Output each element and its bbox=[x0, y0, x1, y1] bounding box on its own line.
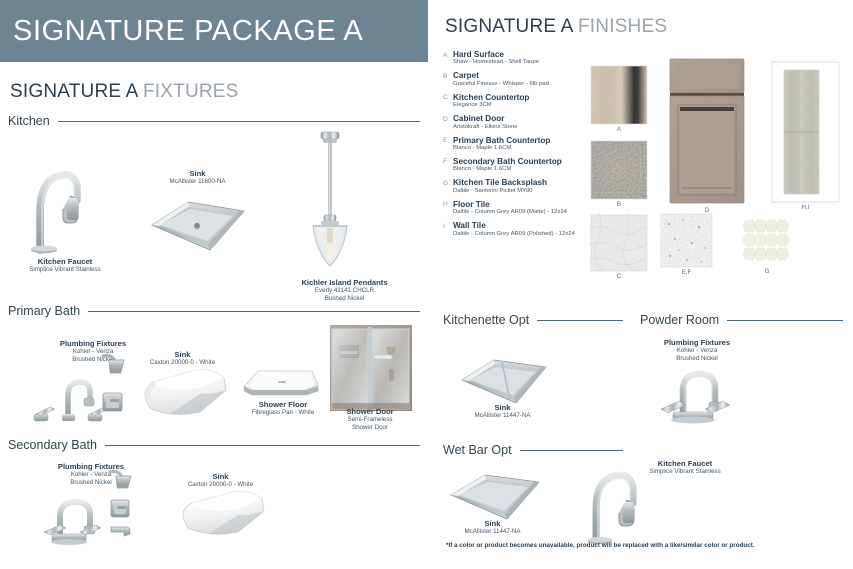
legend-letter: C bbox=[443, 93, 453, 102]
product-image-primary-sink bbox=[140, 368, 232, 420]
product-sub1: McAllister 11600-NA bbox=[145, 178, 250, 186]
product-name: Shower Door bbox=[320, 407, 420, 416]
caption-powder-plumbing: Plumbing Fixtures Kohler - Venza Brushed… bbox=[632, 338, 762, 363]
product-sub1: Simplice Vibrant Stainless bbox=[0, 266, 130, 274]
group-label-secondary-bath: Secondary Bath bbox=[8, 438, 105, 452]
finishes-title-light: FINISHES bbox=[578, 16, 667, 37]
product-sub2: Brushed Nickel bbox=[26, 479, 156, 487]
legend-item-f: F Secondary Bath Countertop Blanco - Map… bbox=[443, 157, 593, 174]
group-heading-kitchenette: Kitchenette Opt bbox=[443, 313, 623, 327]
legend-item-c: C Kitchen Countertop Elegance 3CM bbox=[443, 93, 593, 110]
legend-item-d: D Cabinet Door Aristokraft - Elkins Ston… bbox=[443, 114, 593, 131]
legend-name: Kitchen Tile Backsplash bbox=[453, 178, 547, 187]
product-name: Kitchen Faucet bbox=[620, 459, 750, 468]
legend-letter: H bbox=[443, 200, 453, 209]
finishes-title-strong: SIGNATURE A bbox=[445, 16, 573, 37]
group-label-kitchen: Kitchen bbox=[8, 114, 58, 128]
product-image-kitchen-faucet bbox=[22, 138, 102, 253]
swatch-g-kitchen-backsplash: G bbox=[740, 214, 794, 266]
legend-name: Hard Surface bbox=[453, 50, 539, 59]
caption-wetbar-sink: Sink McAllister 11447-NA bbox=[440, 519, 545, 536]
divider-rule bbox=[537, 320, 623, 321]
legend-letter: E bbox=[443, 136, 453, 145]
product-sub1: Kohler - Venza bbox=[26, 471, 156, 479]
legend-spec: Blanco - Maple 1.6CM bbox=[453, 145, 550, 152]
legend-spec: Shaw - Homestead - Shell Taupe bbox=[453, 59, 539, 66]
finishes-legend: A Hard Surface Shaw - Homestead - Shell … bbox=[443, 50, 593, 243]
product-sub1: Simplice Vibrant Stainless bbox=[620, 468, 750, 476]
product-image-secondary-showerhead bbox=[108, 468, 134, 492]
product-image-secondary-tub-spout bbox=[108, 524, 134, 542]
product-sub1: McAllister 11447-NA bbox=[440, 528, 545, 536]
product-image-primary-showerhead bbox=[100, 352, 128, 378]
caption-kitchen-sink: Sink McAllister 11600-NA bbox=[145, 169, 250, 186]
legend-item-h: H Floor Tile Daltile - Column Grey AR09 … bbox=[443, 200, 593, 217]
swatch-d-cabinet-door: D bbox=[668, 57, 746, 205]
legend-spec: Graceful Finesse - Whisper - 6lb pad bbox=[453, 81, 549, 88]
product-name: Sink bbox=[440, 519, 545, 528]
product-sub1: Kohler - Venza bbox=[632, 347, 762, 355]
product-name: Kitchen Faucet bbox=[0, 257, 130, 266]
product-image-secondary-faucet bbox=[38, 488, 108, 546]
product-sub2: Shower Door bbox=[320, 424, 420, 432]
swatch-ef-bath-countertop: E,F bbox=[661, 214, 712, 267]
product-name: Plumbing Fixtures bbox=[632, 338, 762, 347]
legend-letter: I bbox=[443, 221, 453, 230]
product-name: Plumbing Fixtures bbox=[26, 462, 156, 471]
product-sub2: Bushed Nickel bbox=[272, 295, 417, 303]
legend-name: Cabinet Door bbox=[453, 114, 518, 123]
group-heading-primary-bath: Primary Bath bbox=[8, 304, 420, 318]
legend-item-e: E Primary Bath Countertop Blanco - Maple… bbox=[443, 136, 593, 153]
product-image-island-pendant bbox=[300, 130, 360, 275]
product-image-wetbar-sink bbox=[447, 470, 543, 526]
product-image-shower-door bbox=[330, 325, 412, 411]
product-sub1: Everly 42141 CHCLR bbox=[272, 287, 417, 295]
product-name: Sink bbox=[168, 472, 273, 481]
caption-primary-sink: Sink Caxton 20000-0 - White bbox=[130, 350, 235, 367]
header-bar: SIGNATURE PACKAGE A bbox=[0, 0, 428, 62]
caption-kitchenette-sink: Sink McAllister 11447-NA bbox=[450, 403, 555, 420]
fixtures-section-title: SIGNATURE A FIXTURES bbox=[10, 81, 239, 103]
product-image-powder-faucet bbox=[655, 362, 737, 424]
swatch-label: B bbox=[591, 199, 647, 208]
swatch-label: D bbox=[668, 205, 746, 214]
legend-item-i: I Wall Tile Daltile - Column Grey AR09 (… bbox=[443, 221, 593, 238]
legend-spec: Daltile - Santorini Picket MY90 bbox=[453, 188, 547, 195]
product-image-kitchen-sink bbox=[148, 197, 248, 259]
caption-secondary-plumbing: Plumbing Fixtures Kohler - Venza Brushed… bbox=[26, 462, 156, 487]
product-name: Sink bbox=[145, 169, 250, 178]
legend-spec: Aristokraft - Elkins Stone bbox=[453, 124, 518, 131]
group-label-primary-bath: Primary Bath bbox=[8, 304, 88, 318]
product-sub1: McAllister 11447-NA bbox=[450, 412, 555, 420]
legend-spec: Daltile - Column Grey AR09 (Polished) - … bbox=[453, 231, 575, 238]
legend-name: Primary Bath Countertop bbox=[453, 136, 550, 145]
product-image-secondary-valve-trim bbox=[108, 498, 134, 520]
group-heading-secondary-bath: Secondary Bath bbox=[8, 438, 420, 452]
legend-letter: A bbox=[443, 50, 453, 59]
product-image-primary-valve-trim bbox=[100, 390, 126, 414]
product-name: Sink bbox=[450, 403, 555, 412]
product-image-shower-floor bbox=[240, 365, 322, 403]
availability-footnote: *If a color or product becomes unavailab… bbox=[446, 542, 755, 549]
swatch-label: C bbox=[591, 271, 647, 280]
legend-letter: G bbox=[443, 178, 453, 187]
fixtures-title-strong: SIGNATURE A bbox=[10, 81, 138, 102]
product-sub1: Caxton 20000-0 - White bbox=[168, 481, 273, 489]
group-label-kitchenette: Kitchenette Opt bbox=[443, 313, 537, 327]
divider-rule bbox=[520, 450, 623, 451]
legend-spec: Blanco - Maple 1.6CM bbox=[453, 166, 562, 173]
legend-spec: Elegance 3CM bbox=[453, 102, 529, 109]
swatch-label: H,I bbox=[772, 202, 839, 211]
legend-letter: B bbox=[443, 71, 453, 80]
group-label-powder-room: Powder Room bbox=[640, 313, 727, 327]
fixtures-title-light: FIXTURES bbox=[143, 81, 239, 102]
page-title: SIGNATURE PACKAGE A bbox=[0, 15, 363, 48]
caption-wetbar-faucet: Kitchen Faucet Simplice Vibrant Stainles… bbox=[620, 459, 750, 476]
divider-rule bbox=[58, 121, 420, 122]
caption-island-pendant: Kichler Island Pendants Everly 42141 CHC… bbox=[272, 278, 417, 303]
finishes-section-title: SIGNATURE A FINISHES bbox=[445, 16, 667, 38]
design-board: SIGNATURE PACKAGE A SIGNATURE A FIXTURES… bbox=[0, 0, 853, 569]
swatch-b-carpet: B bbox=[591, 141, 647, 199]
legend-name: Floor Tile bbox=[453, 200, 567, 209]
legend-name: Wall Tile bbox=[453, 221, 575, 230]
product-sub1: Caxton 20000-0 - White bbox=[130, 359, 235, 367]
legend-letter: D bbox=[443, 114, 453, 123]
group-heading-powder-room: Powder Room bbox=[640, 313, 843, 327]
legend-name: Secondary Bath Countertop bbox=[453, 157, 562, 166]
product-image-kitchenette-sink bbox=[458, 355, 550, 410]
group-heading-kitchen: Kitchen bbox=[8, 114, 420, 128]
product-name: Kichler Island Pendants bbox=[272, 278, 417, 287]
product-image-secondary-sink bbox=[178, 490, 270, 540]
group-label-wet-bar: Wet Bar Opt bbox=[443, 443, 520, 457]
legend-spec: Daltile - Column Grey AR09 (Matte) - 12x… bbox=[453, 209, 567, 216]
product-image-primary-plumbing bbox=[28, 370, 108, 425]
product-name: Sink bbox=[130, 350, 235, 359]
product-sub1: Semi-Frameless bbox=[320, 416, 420, 424]
caption-shower-door: Shower Door Semi-Frameless Shower Door bbox=[320, 407, 420, 432]
swatch-hi-floor-wall-tile: H,I bbox=[772, 62, 839, 202]
caption-kitchen-faucet: Kitchen Faucet Simplice Vibrant Stainles… bbox=[0, 257, 130, 274]
swatch-label: A bbox=[591, 124, 647, 133]
legend-name: Carpet bbox=[453, 71, 549, 80]
legend-letter: F bbox=[443, 157, 453, 166]
legend-item-g: G Kitchen Tile Backsplash Daltile - Sant… bbox=[443, 178, 593, 195]
divider-rule bbox=[105, 445, 420, 446]
swatch-label: E,F bbox=[661, 267, 712, 276]
legend-name: Kitchen Countertop bbox=[453, 93, 529, 102]
product-name: Plumbing Fixtures bbox=[28, 339, 158, 348]
legend-item-a: A Hard Surface Shaw - Homestead - Shell … bbox=[443, 50, 593, 67]
caption-secondary-sink: Sink Caxton 20000-0 - White bbox=[168, 472, 273, 489]
swatch-c-kitchen-countertop: C bbox=[591, 215, 647, 271]
swatch-label: G bbox=[740, 266, 794, 275]
legend-item-b: B Carpet Graceful Finesse - Whisper - 6l… bbox=[443, 71, 593, 88]
divider-rule bbox=[88, 311, 420, 312]
divider-rule bbox=[727, 320, 843, 321]
swatch-a-hard-surface: A bbox=[591, 66, 647, 124]
